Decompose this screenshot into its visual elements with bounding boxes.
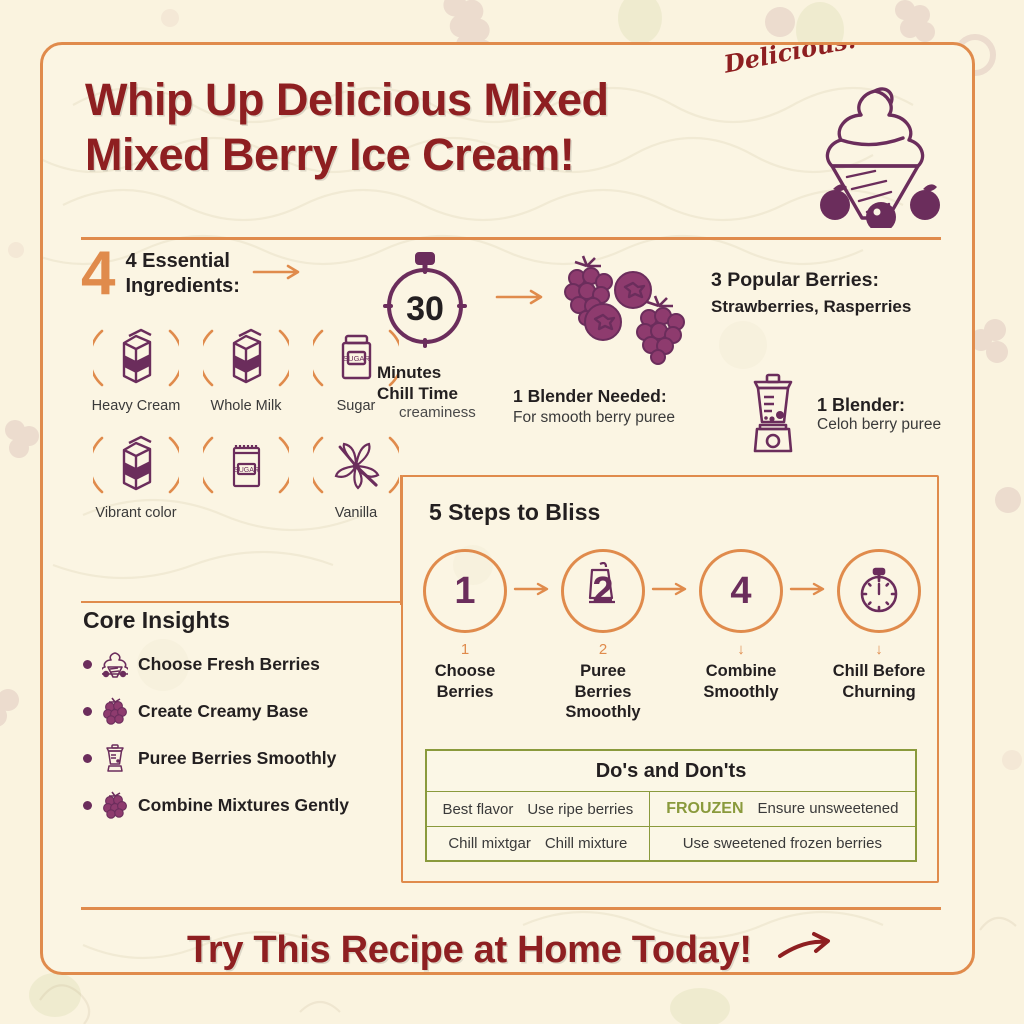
- insight-item: Combine Mixtures Gently: [83, 791, 413, 819]
- step-badge: 1: [423, 549, 507, 633]
- do-label-a: Chill mixtgar: [448, 835, 531, 852]
- timer-caption-minutes: Minutes: [377, 363, 476, 384]
- step-label-line2: Smoothly: [565, 702, 640, 723]
- insight-label: Puree Berries Smoothly: [138, 748, 336, 769]
- ingredients-grid: Heavy Cream Whole Milk: [81, 321, 411, 521]
- ingredient-label: Vanilla: [335, 505, 377, 521]
- insight-item: Choose Fresh Berries: [83, 650, 413, 678]
- chill-timer-block: 30 Minutes Chill Time creaminess: [377, 250, 476, 423]
- blender-title: 1 Blender:: [817, 395, 941, 416]
- ingredient-item: Heavy Cream: [81, 321, 191, 414]
- step-sub: ↓: [875, 641, 883, 661]
- insight-item: Puree Berries Smoothly: [83, 744, 413, 772]
- milk-carton-icon: [93, 321, 179, 395]
- do-cell: Best flavor Use ripe berries: [427, 792, 649, 827]
- step-label-line1: Chill Before: [833, 661, 926, 682]
- table-row: Chill mixtgar Chill mixture Use sweetene…: [427, 827, 915, 861]
- svg-text:SUGAR: SUGAR: [343, 354, 370, 363]
- insight-label: Choose Fresh Berries: [138, 654, 320, 675]
- ingredient-label: Whole Milk: [211, 398, 282, 414]
- footer-cta[interactable]: Try This Recipe at Home Today!: [43, 929, 975, 974]
- bullet-dot-icon: [83, 801, 92, 810]
- do-label-b: Chill mixture: [545, 835, 628, 852]
- ingredients-heading: 4 4 Essential Ingredients:: [81, 248, 411, 301]
- dos-and-donts-heading: Do's and Don'ts: [427, 751, 915, 791]
- stopwatch-icon: [855, 566, 903, 616]
- arrow-right-icon: [651, 549, 693, 597]
- infographic-panel: Whip Up Delicious Mixed Mixed Berry Ice …: [40, 42, 975, 975]
- step-number: 4: [730, 570, 751, 613]
- steps-heading: 5 Steps to Bliss: [429, 499, 600, 526]
- ingredients-heading-line2: Ingredients:: [125, 274, 239, 300]
- step-label-line2: Churning: [842, 682, 915, 703]
- step-sub: 2: [599, 641, 607, 661]
- timer-value: 30: [406, 290, 444, 328]
- step-number: 1: [454, 570, 475, 613]
- blender-icon: [580, 562, 628, 614]
- ingredient-label: Vibrant color: [95, 505, 176, 521]
- core-insights-heading: Core Insights: [83, 607, 413, 634]
- insight-item: Create Creamy Base: [83, 697, 413, 725]
- bullet-dot-icon: [83, 754, 92, 763]
- ingredient-item: Vibrant color: [81, 428, 191, 521]
- step-label-line2: Smoothly: [703, 682, 778, 703]
- header-divider: [81, 237, 941, 240]
- step-label-line1: Choose: [435, 661, 496, 682]
- bullet-dot-icon: [83, 660, 92, 669]
- ingredient-label: Heavy Cream: [92, 398, 181, 414]
- arrow-right-icon: [495, 288, 549, 311]
- step-item[interactable]: 2 2 Puree Berries Smoothly: [555, 549, 651, 723]
- popular-berries-subtitle: Strawberries, Rasperries: [711, 295, 911, 319]
- arrow-curve-right-icon: [776, 930, 834, 974]
- core-insights-section: Core Insights Choose Fresh Berries: [83, 607, 413, 838]
- blender-needed-block: 1 Blender Needed: For smooth berry puree: [513, 385, 675, 428]
- steps-section: 5 Steps to Bliss 1 1 Choose Berries: [401, 475, 939, 883]
- blender-icon: [102, 744, 128, 772]
- do-cell: Chill mixtgar Chill mixture: [427, 827, 649, 861]
- popular-berries-block: 3 Popular Berries: Strawberries, Rasperr…: [711, 267, 911, 319]
- timer-caption: Minutes Chill Time creaminess: [377, 363, 476, 423]
- raspberry-icon: [102, 697, 128, 725]
- step-badge: [837, 549, 921, 633]
- ingredient-item: Vanilla: [301, 428, 411, 521]
- do-label-b: Use ripe berries: [527, 801, 633, 818]
- footer-divider: [81, 907, 941, 910]
- timer-caption-chill: Chill Time: [377, 384, 476, 405]
- step-sub: ↓: [737, 641, 745, 661]
- insight-label: Create Creamy Base: [138, 701, 308, 722]
- dont-label: Use sweetened frozen berries: [683, 835, 882, 852]
- dos-and-donts-table: Do's and Don'ts Best flavor Use ripe ber…: [425, 749, 917, 862]
- blender-needed-title: 1 Blender Needed:: [513, 385, 675, 408]
- step-badge: 2: [561, 549, 645, 633]
- footer-cta-label: Try This Recipe at Home Today!: [187, 929, 752, 971]
- ingredients-heading-line1: 4 Essential: [125, 249, 239, 275]
- blender-icon: [743, 373, 803, 455]
- stopwatch-icon: 30: [377, 250, 473, 350]
- arrow-right-icon: [513, 549, 555, 597]
- dont-accent: FROUZEN: [666, 800, 743, 818]
- ingredient-label: Sugar: [337, 398, 376, 414]
- ingredient-item: SUGAR: [191, 428, 301, 521]
- step-label-line1: Puree Berries: [555, 661, 651, 702]
- dont-label: Ensure unsweetened: [758, 800, 899, 817]
- step-badge: 4: [699, 549, 783, 633]
- vanilla-flower-icon: [313, 428, 399, 502]
- step-label-line1: Combine: [706, 661, 777, 682]
- dont-cell: FROUZEN Ensure unsweetened: [649, 792, 915, 827]
- blender-needed-subtitle: For smooth berry puree: [513, 408, 675, 428]
- ingredient-item: Whole Milk: [191, 321, 301, 414]
- sugar-bag-icon: SUGAR: [203, 428, 289, 502]
- svg-text:SUGAR: SUGAR: [234, 467, 259, 474]
- ice-cream-cone-icon: [102, 650, 128, 678]
- popular-berries-title: 3 Popular Berries:: [711, 267, 911, 295]
- steps-row: 1 1 Choose Berries: [417, 549, 927, 723]
- insights-divider: [81, 601, 401, 603]
- step-item[interactable]: ↓ Chill Before Churning: [831, 549, 927, 702]
- step-sub: 1: [461, 641, 469, 661]
- ingredients-section: 4 4 Essential Ingredients:: [81, 248, 411, 521]
- timer-caption-creaminess: creaminess: [377, 404, 476, 422]
- step-label-line2: Berries: [437, 682, 494, 703]
- step-item[interactable]: 1 1 Choose Berries: [417, 549, 513, 702]
- mixed-berries-icon: [555, 250, 705, 375]
- blender-block: 1 Blender: Celoh berry puree: [743, 373, 941, 455]
- table-row: Best flavor Use ripe berries FROUZEN Ens…: [427, 792, 915, 827]
- milk-carton-icon: [203, 321, 289, 395]
- arrow-right-icon: [789, 549, 831, 597]
- do-label-a: Best flavor: [442, 801, 513, 818]
- ingredients-count: 4: [81, 248, 115, 301]
- blender-subtitle: Celoh berry puree: [817, 416, 941, 434]
- arrow-right-icon: [252, 263, 306, 286]
- ice-cream-cone-icon: [805, 73, 945, 233]
- step-item[interactable]: 4 ↓ Combine Smoothly: [693, 549, 789, 702]
- raspberry-icon: [102, 791, 128, 819]
- bullet-dot-icon: [83, 707, 92, 716]
- dont-cell: Use sweetened frozen berries: [649, 827, 915, 861]
- insight-label: Combine Mixtures Gently: [138, 795, 349, 816]
- milk-carton-icon: [93, 428, 179, 502]
